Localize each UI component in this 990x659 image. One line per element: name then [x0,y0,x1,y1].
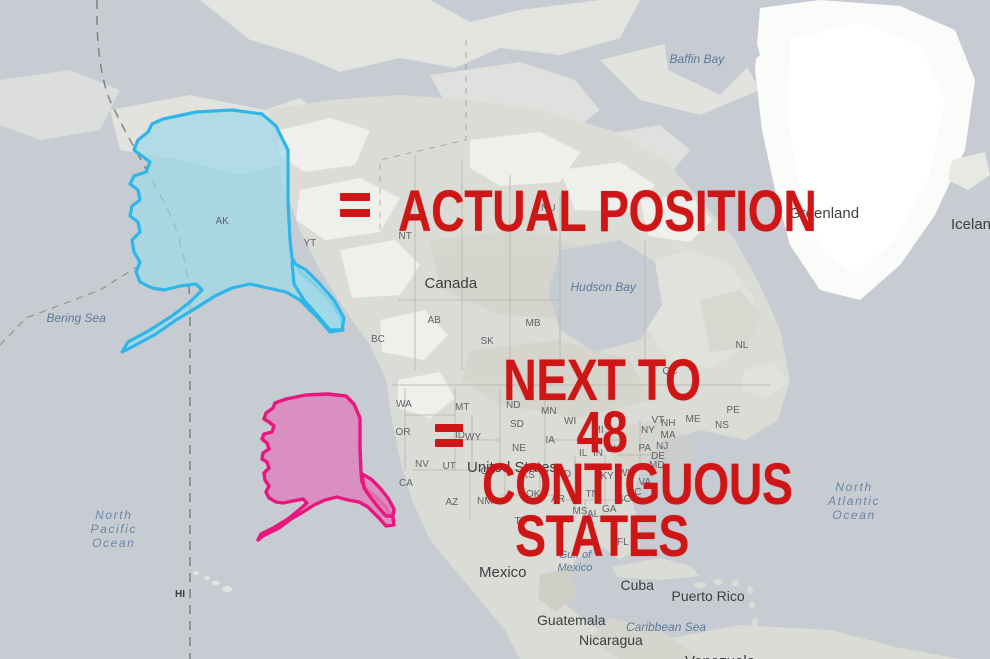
equals-bar-top [340,193,370,201]
map-infographic: CanadaGreenlandIcelandUnited StatesMexic… [0,0,990,659]
annotation-next-to-48-block: NEXT TO 48 CONTIGUOUS STATES [452,355,752,563]
annotation-line-3: STATES [482,511,722,563]
equals-sign-actual [340,193,370,217]
annotation-actual-position: ACTUAL POSITION [398,183,816,241]
annotation-line-1: NEXT TO 48 [482,355,722,459]
equals-bar-bottom [340,209,370,217]
